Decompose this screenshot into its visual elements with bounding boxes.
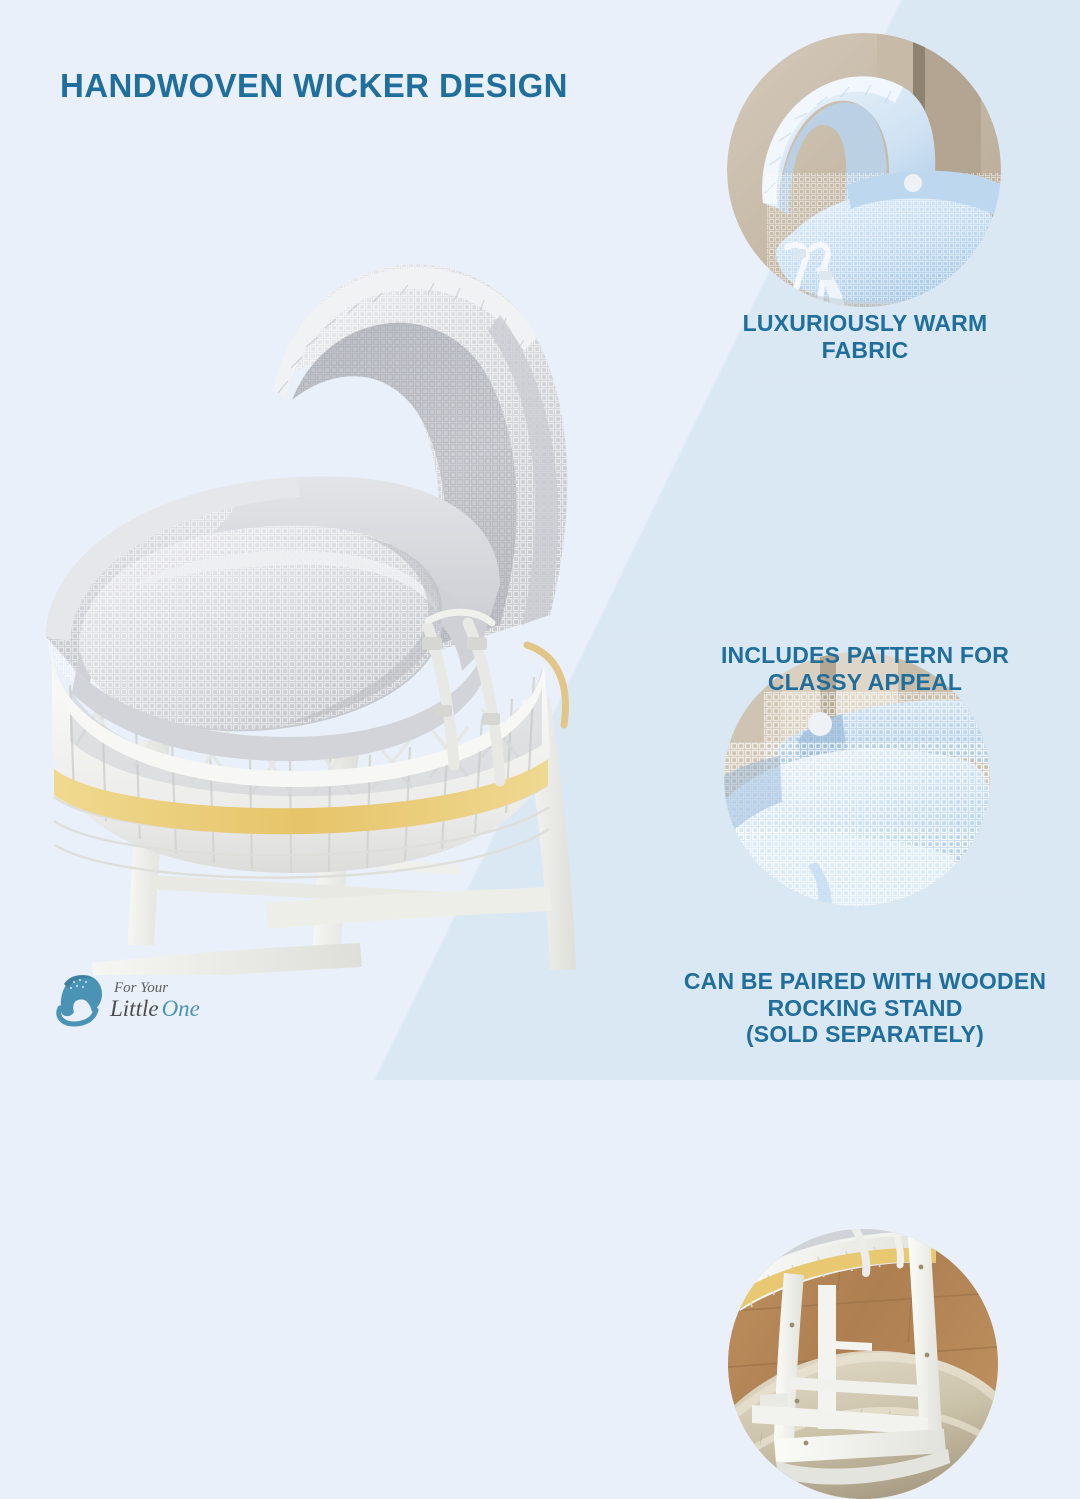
logo-line1: For Your	[113, 980, 168, 996]
mother-and-baby-icon	[59, 975, 102, 1024]
feature-image-luxurious-fabric	[727, 33, 1001, 307]
feature-caption-rocking-stand: CAN BE PAIRED WITH WOODEN ROCKING STAND …	[655, 968, 1075, 1048]
caption-line: ROCKING STAND	[655, 995, 1075, 1022]
caption-line: FABRIC	[700, 337, 1030, 364]
feature-caption-classy-pattern: INCLUDES PATTERN FOR CLASSY APPEAL	[690, 642, 1040, 695]
feature-image-rocking-stand	[722, 1229, 1004, 1499]
caption-line: (SOLD SEPARATELY)	[655, 1021, 1075, 1048]
brand-logo[interactable]: For Your LittleOne	[52, 968, 202, 1030]
caption-line: INCLUDES PATTERN FOR	[690, 642, 1040, 669]
caption-line: CLASSY APPEAL	[690, 669, 1040, 696]
logo-line2: LittleOne	[109, 996, 200, 1021]
hero-product-image	[30, 185, 640, 975]
caption-line: CAN BE PAIRED WITH WOODEN	[655, 968, 1075, 995]
caption-line: LUXURIOUSLY WARM	[700, 310, 1030, 337]
feature-caption-luxurious-fabric: LUXURIOUSLY WARM FABRIC	[700, 310, 1030, 363]
page-title: HANDWOVEN WICKER DESIGN	[60, 68, 568, 104]
